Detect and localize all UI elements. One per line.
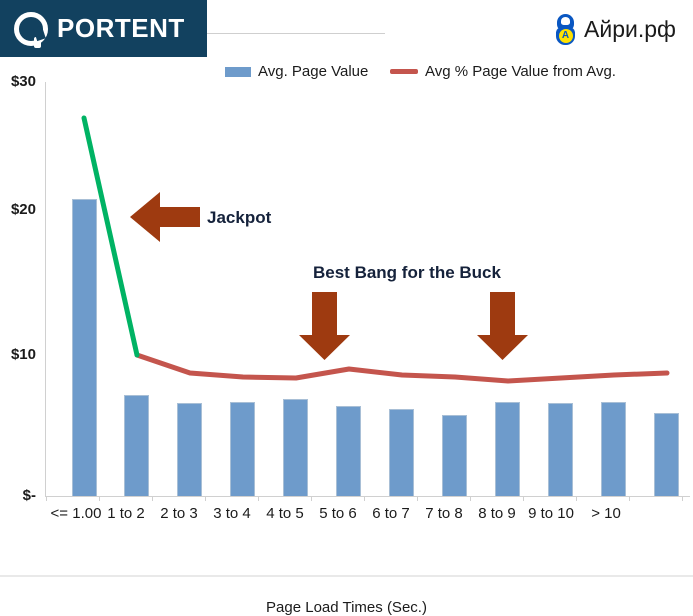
x-tick-1 [99, 496, 100, 501]
x-axis-title: Page Load Times (Sec.) [0, 599, 693, 616]
x-axis-category-1: 1 to 2 [98, 505, 154, 522]
x-axis-category-3: 3 to 4 [204, 505, 260, 522]
watermark-text: Айри.рф [584, 16, 676, 43]
bottom-divider [0, 575, 693, 577]
x-tick-4 [258, 496, 259, 501]
x-axis-category-10: > 10 [578, 505, 634, 522]
x-tick-0 [46, 496, 47, 501]
x-tick-10 [576, 496, 577, 501]
best-bang-annotation-label: Best Bang for the Buck [313, 263, 501, 283]
screenshot-root: PORTENT A Айри.рф Avg. Page Value Avg % … [0, 0, 693, 580]
x-axis-category-2: 2 to 3 [151, 505, 207, 522]
x-axis-category-6: 6 to 7 [363, 505, 419, 522]
x-tick-12 [682, 496, 683, 501]
x-axis-category-8: 8 to 9 [469, 505, 525, 522]
jackpot-annotation-label: Jackpot [207, 208, 271, 228]
best-bang-down-arrow-icon-1 [299, 292, 350, 360]
watermark: A Айри.рф [556, 14, 676, 45]
best-bang-down-arrow-icon-2 [477, 292, 528, 360]
portent-logo-text: PORTENT [57, 13, 185, 44]
chart-container: Avg. Page Value Avg % Page Value from Av… [0, 62, 693, 580]
x-tick-11 [629, 496, 630, 501]
jackpot-left-arrow-icon [130, 192, 200, 242]
x-tick-7 [417, 496, 418, 501]
x-tick-8 [470, 496, 471, 501]
header-divider [207, 33, 385, 34]
annotation-layer [0, 62, 693, 580]
x-tick-3 [205, 496, 206, 501]
x-axis-category-5: 5 to 6 [310, 505, 366, 522]
portent-ring-logo-icon [14, 12, 48, 46]
x-tick-2 [152, 496, 153, 501]
x-axis-category-4: 4 to 5 [257, 505, 313, 522]
x-tick-5 [311, 496, 312, 501]
airi-badge-icon: A [556, 14, 575, 45]
x-tick-6 [364, 496, 365, 501]
airi-badge-letter: A [559, 29, 573, 43]
x-axis-category-7: 7 to 8 [416, 505, 472, 522]
x-axis-category-9: 9 to 10 [518, 505, 584, 522]
x-tick-9 [523, 496, 524, 501]
portent-logo-block: PORTENT [0, 0, 207, 57]
